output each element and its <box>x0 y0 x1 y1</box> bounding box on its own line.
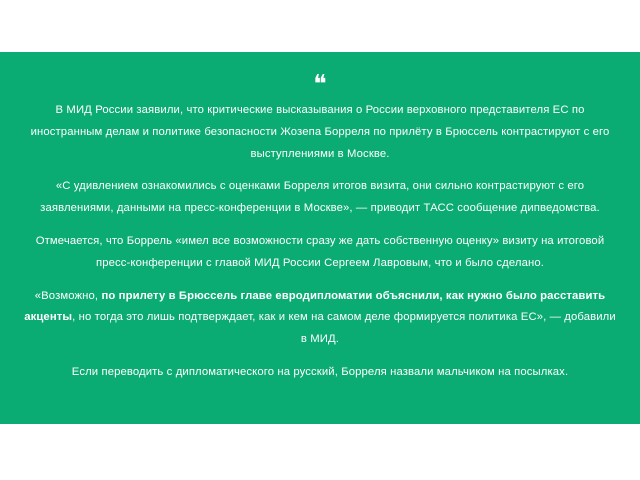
para-2: «С удивлением ознакомились с оценками Бо… <box>14 176 626 220</box>
para-5-run-0: Если переводить с дипломатического на ру… <box>72 366 568 378</box>
double-quote-open-icon: ❝ <box>14 74 626 98</box>
quote-card: ❝ В МИД России заявили, что критические … <box>0 52 640 424</box>
para-1: В МИД России заявили, что критические вы… <box>14 100 626 165</box>
para-4: «Возможно, по прилету в Брюссель главе е… <box>14 286 626 351</box>
quote-text-body: В МИД России заявили, что критические вы… <box>14 100 626 384</box>
para-4-run-2: , но тогда это лишь подтверждает, как и … <box>72 311 616 345</box>
para-4-run-0: «Возможно, <box>35 290 102 302</box>
para-3: Отмечается, что Боррель «имел все возмож… <box>14 231 626 275</box>
para-1-run-0: В МИД России заявили, что критические вы… <box>31 104 610 160</box>
para-5: Если переводить с дипломатического на ру… <box>14 362 626 384</box>
para-2-run-0: «С удивлением ознакомились с оценками Бо… <box>40 180 600 214</box>
para-3-run-0: Отмечается, что Боррель «имел все возмож… <box>36 235 605 269</box>
